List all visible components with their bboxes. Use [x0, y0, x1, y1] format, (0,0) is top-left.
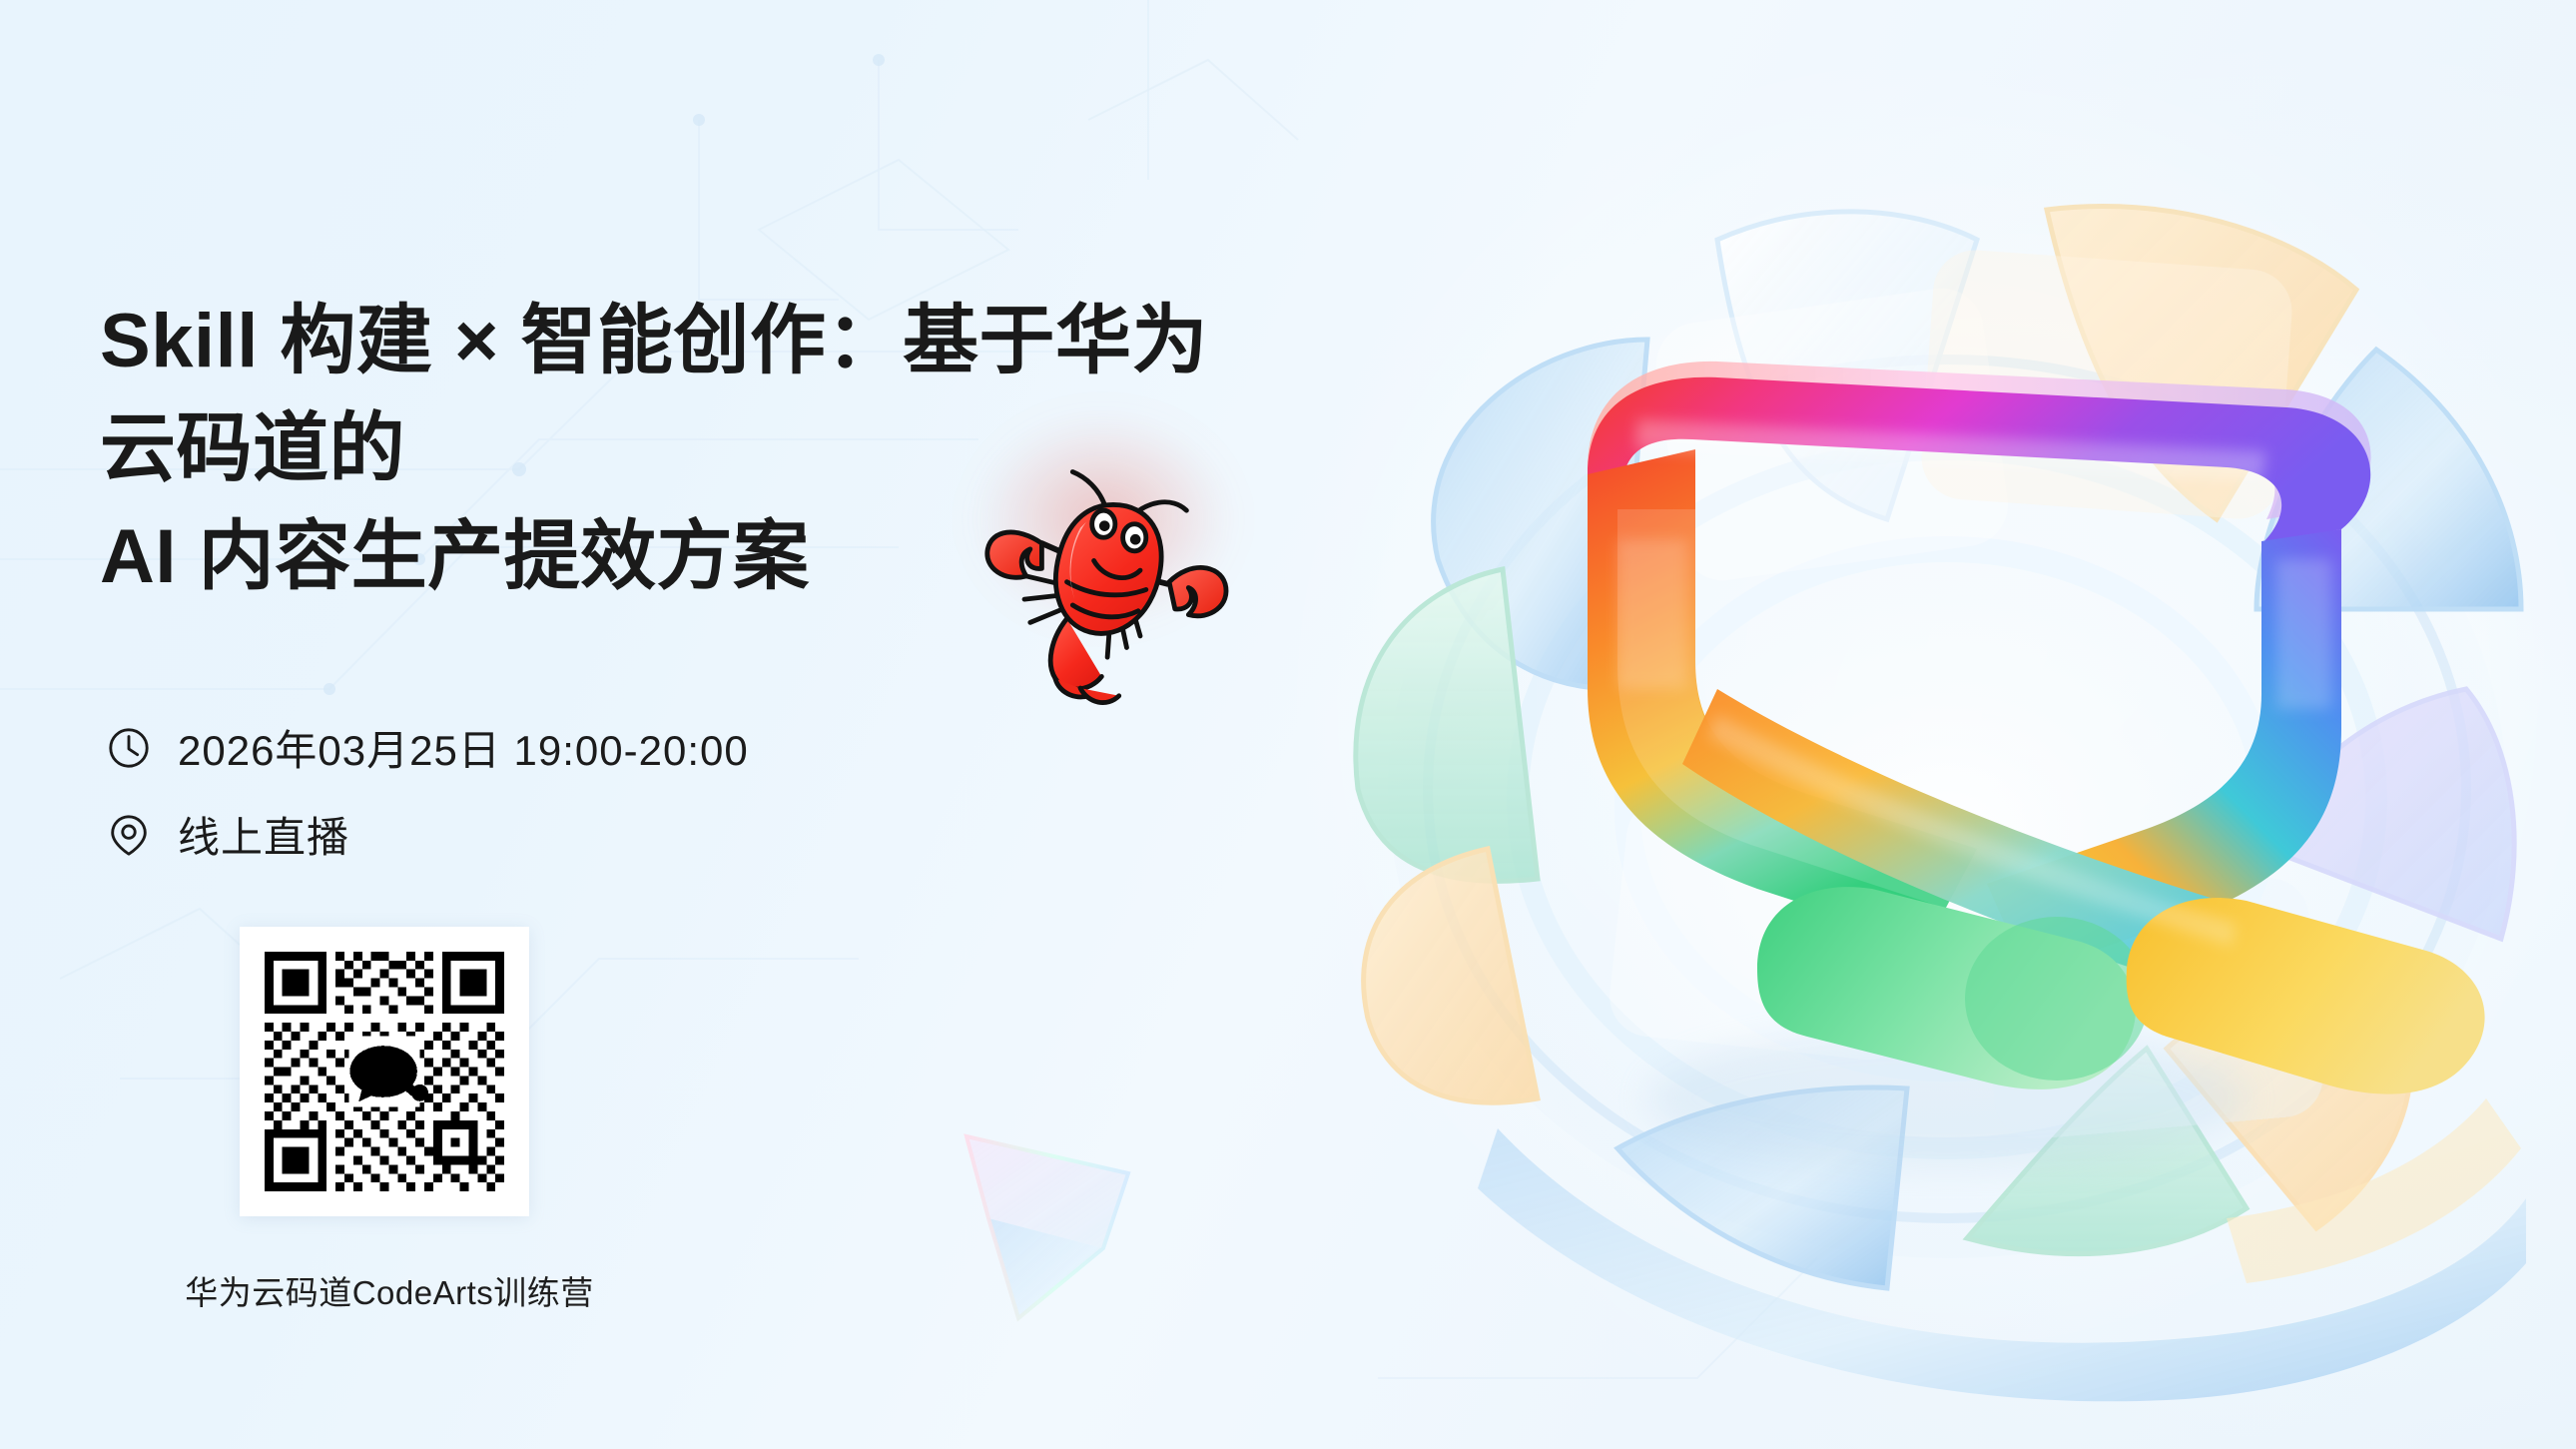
event-banner: Skill 构建 × 智能创作：基于华为云码道的 AI 内容生产提效方案 202…: [0, 0, 2576, 1449]
event-datetime-text: 2026年03月25日 19:00-20:00: [178, 717, 749, 778]
qr-code[interactable]: [240, 927, 529, 1216]
event-location-row: 线上直播: [106, 804, 349, 865]
event-location-text: 线上直播: [178, 804, 349, 865]
chat-bubble-icon: [348, 1036, 428, 1106]
clock-icon: [106, 725, 152, 771]
event-datetime-row: 2026年03月25日 19:00-20:00: [106, 717, 749, 778]
qr-caption: 华为云码道CodeArts训练营: [160, 1266, 619, 1314]
location-pin-icon: [106, 812, 152, 858]
lobster-sticker: [966, 429, 1256, 719]
codearts-3d-artwork: [1288, 90, 2576, 1418]
qr-code-matrix: [256, 943, 513, 1200]
content-column: Skill 构建 × 智能创作：基于华为云码道的 AI 内容生产提效方案 202…: [100, 0, 1298, 1449]
